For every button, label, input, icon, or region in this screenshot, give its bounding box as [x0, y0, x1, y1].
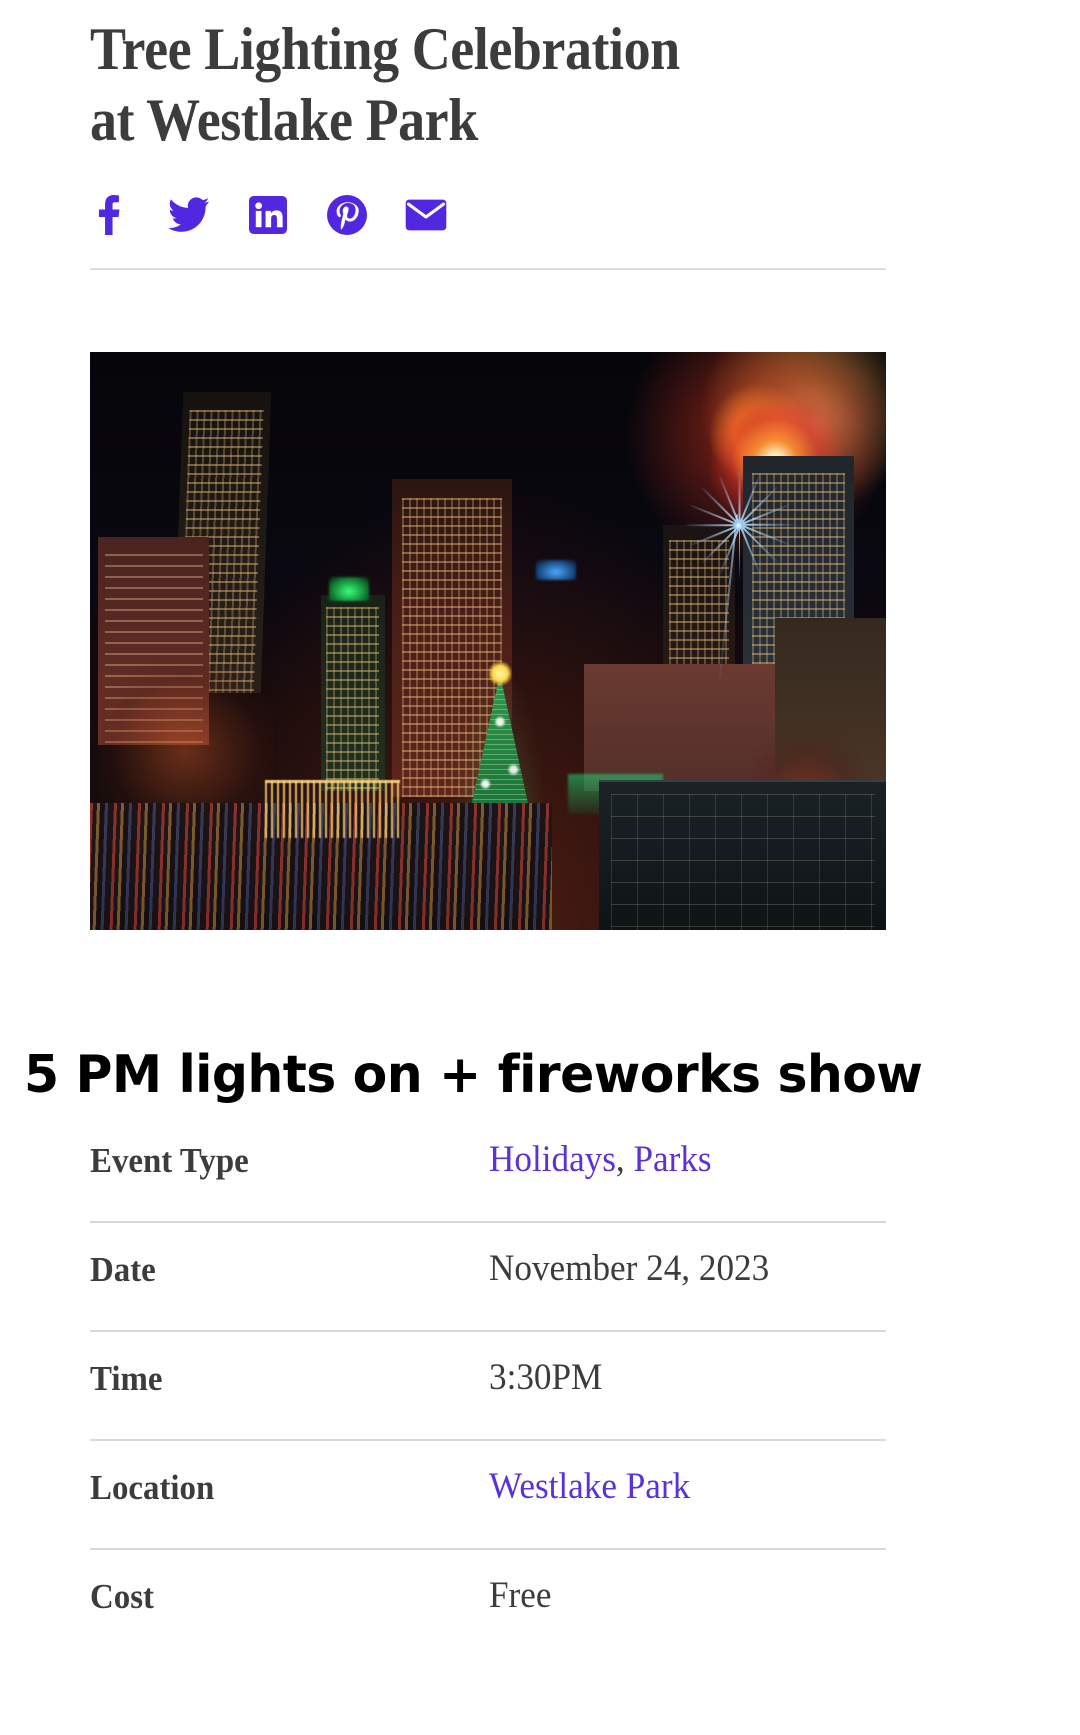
header-divider: [90, 268, 886, 270]
event-photo-image: [90, 352, 886, 930]
table-row: Cost Free: [90, 1550, 886, 1659]
pinterest-share-icon[interactable]: [325, 193, 369, 237]
facebook-share-icon[interactable]: [88, 193, 132, 237]
event-type-separator: ,: [616, 1139, 634, 1180]
linkedin-share-icon[interactable]: [246, 193, 290, 237]
table-row: Date November 24, 2023: [90, 1223, 886, 1332]
detail-label-location: Location: [90, 1441, 465, 1505]
event-type-link-holidays[interactable]: Holidays: [489, 1139, 616, 1180]
detail-value-cost: Free: [489, 1550, 866, 1614]
twitter-share-icon[interactable]: [167, 193, 211, 237]
table-row: Event Type Holidays, Parks: [90, 1114, 886, 1223]
location-link-westlake-park[interactable]: Westlake Park: [489, 1466, 690, 1507]
christmas-tree-star-icon: [489, 661, 512, 686]
email-share-icon[interactable]: [404, 193, 448, 237]
market-arch-lights: [265, 780, 400, 838]
detail-label-date: Date: [90, 1223, 465, 1287]
event-details-table: Event Type Holidays, Parks Date November…: [90, 1114, 886, 1659]
blue-roof-light: [536, 560, 576, 580]
green-roof-light: [329, 577, 369, 600]
detail-value-event-type: Holidays, Parks: [489, 1114, 866, 1178]
table-row: Location Westlake Park: [90, 1441, 886, 1550]
detail-label-cost: Cost: [90, 1550, 465, 1614]
detail-value-time: 3:30PM: [489, 1332, 866, 1396]
event-type-link-parks[interactable]: Parks: [634, 1139, 712, 1180]
event-detail-page: Tree Lighting Celebration at Westlake Pa…: [0, 0, 1080, 1735]
page-title: Tree Lighting Celebration at Westlake Pa…: [90, 14, 810, 156]
detail-value-location: Westlake Park: [489, 1441, 866, 1505]
social-share-row: [88, 185, 448, 245]
page-title-block: Tree Lighting Celebration at Westlake Pa…: [90, 14, 890, 156]
building-green-crown: [321, 595, 385, 792]
detail-label-time: Time: [90, 1332, 465, 1396]
detail-label-event-type: Event Type: [90, 1114, 465, 1178]
glass-pavilion: [599, 780, 886, 930]
firework-burst-blue: [671, 468, 806, 584]
event-photo: [90, 352, 886, 930]
table-row: Time 3:30PM: [90, 1332, 886, 1441]
detail-value-date: November 24, 2023: [489, 1223, 866, 1287]
photo-caption: 5 PM lights on + fireworks show: [24, 1048, 1025, 1103]
